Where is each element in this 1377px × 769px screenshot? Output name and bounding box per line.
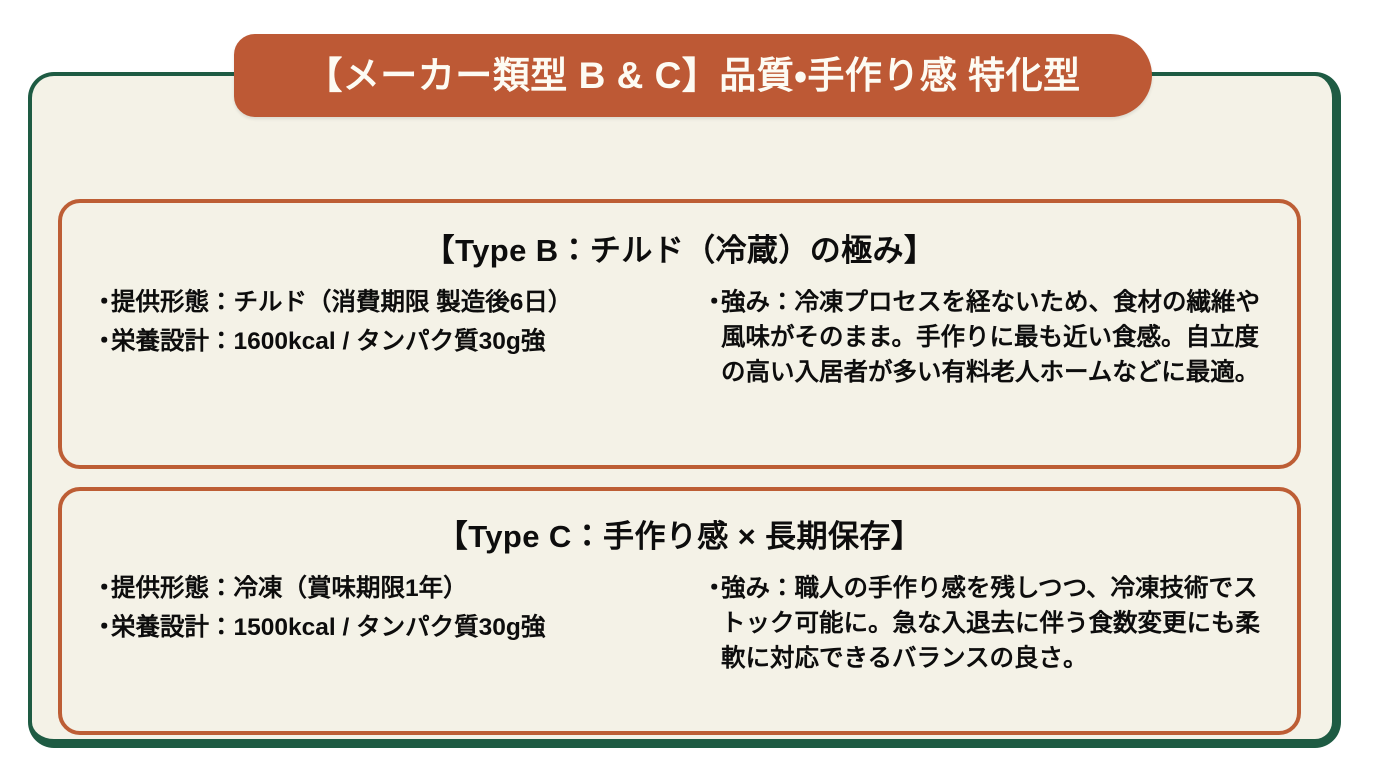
list-item: ・ 栄養設計：1600kcal / タンパク質30g強 (92, 325, 692, 359)
card-type-c: 【Type C：手作り感 × 長期保存】 ・ 提供形態：冷凍（賞味期限1年） ・… (58, 487, 1301, 735)
bullet-dot-icon: ・ (92, 325, 111, 359)
slide-canvas: 〜「毎日の食事が最大の楽しみ」という施設へ〜 【Type B：チルド（冷蔵）の極… (0, 0, 1377, 769)
bullet-dot-icon: ・ (702, 286, 721, 390)
list-item: ・ 栄養設計：1500kcal / タンパク質30g強 (92, 611, 692, 645)
card-type-c-left-column: ・ 提供形態：冷凍（賞味期限1年） ・ 栄養設計：1500kcal / タンパク… (92, 572, 692, 681)
card-type-c-body: ・ 提供形態：冷凍（賞味期限1年） ・ 栄養設計：1500kcal / タンパク… (62, 572, 1297, 681)
list-item-label: 強み：職人の手作り感を残しつつ、冷凍技術でストック可能に。急な入退去に伴う食数変… (721, 572, 1279, 676)
bullet-dot-icon: ・ (92, 286, 111, 320)
card-type-b-right-column: ・ 強み：冷凍プロセスを経ないため、食材の繊維や風味がそのまま。手作りに最も近い… (692, 286, 1279, 395)
outer-frame: 〜「毎日の食事が最大の楽しみ」という施設へ〜 【Type B：チルド（冷蔵）の極… (28, 72, 1341, 748)
list-item: ・ 提供形態：チルド（消費期限 製造後6日） (92, 286, 692, 320)
bullet-dot-icon: ・ (702, 572, 721, 676)
list-item-label: 栄養設計：1500kcal / タンパク質30g強 (111, 611, 692, 645)
bullet-dot-icon: ・ (92, 611, 111, 645)
list-item-label: 提供形態：チルド（消費期限 製造後6日） (111, 286, 692, 320)
list-item: ・ 強み：職人の手作り感を残しつつ、冷凍技術でストック可能に。急な入退去に伴う食… (702, 572, 1279, 676)
bullet-dot-icon: ・ (92, 572, 111, 606)
list-item-label: 提供形態：冷凍（賞味期限1年） (111, 572, 692, 606)
list-item: ・ 強み：冷凍プロセスを経ないため、食材の繊維や風味がそのまま。手作りに最も近い… (702, 286, 1279, 390)
list-item-label: 強み：冷凍プロセスを経ないため、食材の繊維や風味がそのまま。手作りに最も近い食感… (721, 286, 1279, 390)
card-type-b: 【Type B：チルド（冷蔵）の極み】 ・ 提供形態：チルド（消費期限 製造後6… (58, 199, 1301, 469)
card-type-b-left-column: ・ 提供形態：チルド（消費期限 製造後6日） ・ 栄養設計：1600kcal /… (92, 286, 692, 395)
card-type-c-right-column: ・ 強み：職人の手作り感を残しつつ、冷凍技術でストック可能に。急な入退去に伴う食… (692, 572, 1279, 681)
list-item-label: 栄養設計：1600kcal / タンパク質30g強 (111, 325, 692, 359)
card-type-b-title: 【Type B：チルド（冷蔵）の極み】 (62, 225, 1297, 270)
card-type-b-body: ・ 提供形態：チルド（消費期限 製造後6日） ・ 栄養設計：1600kcal /… (62, 286, 1297, 395)
list-item: ・ 提供形態：冷凍（賞味期限1年） (92, 572, 692, 606)
title-banner-label: 【メーカー類型 B & C】品質・手作り感 特化型 (305, 57, 1080, 94)
card-type-c-title: 【Type C：手作り感 × 長期保存】 (62, 511, 1297, 556)
title-banner: 【メーカー類型 B & C】品質・手作り感 特化型 (234, 34, 1152, 117)
